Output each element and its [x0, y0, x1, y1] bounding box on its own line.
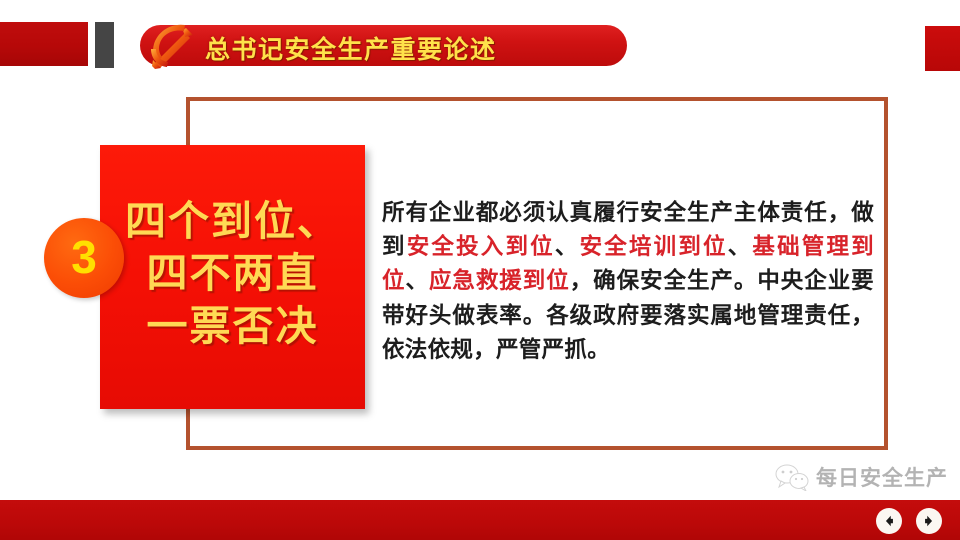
headline-line-1: 四个到位、	[100, 195, 365, 247]
body-plain-segment: 、	[728, 234, 753, 259]
arrow-left-icon[interactable]	[876, 508, 902, 534]
step-number-badge: 3	[44, 218, 124, 298]
hammer-sickle-emblem-icon	[141, 19, 197, 71]
slide-navigation	[876, 508, 942, 534]
body-plain-segment: 、	[555, 234, 580, 259]
footer-bar	[0, 500, 960, 540]
header-accent-bar-left	[0, 22, 88, 66]
body-plain-segment: 、	[405, 268, 428, 293]
arrow-right-icon[interactable]	[916, 508, 942, 534]
body-highlight-segment: 安全培训到位	[580, 234, 728, 259]
body-highlight-segment: 应急救援到位	[429, 268, 570, 293]
body-highlight-segment: 安全投入到位	[407, 234, 555, 259]
headline-line-3: 一票否决	[100, 300, 365, 352]
slide-canvas: 总书记安全生产重要论述 四个到位、 四不两直 一票否决 3 所有企业都必须认真履…	[0, 0, 960, 540]
header-corner-square	[925, 26, 960, 71]
wechat-logo-icon	[775, 463, 809, 491]
watermark: 每日安全生产	[775, 462, 948, 492]
header-accent-bar-gray	[95, 22, 114, 68]
watermark-label: 每日安全生产	[816, 462, 948, 492]
step-number-label: 3	[71, 234, 97, 280]
headline-block: 四个到位、 四不两直 一票否决	[100, 145, 365, 409]
page-title: 总书记安全生产重要论述	[205, 30, 497, 66]
headline-text: 四个到位、 四不两直 一票否决	[100, 195, 365, 352]
headline-line-2: 四不两直	[100, 247, 365, 299]
body-paragraph: 所有企业都必须认真履行安全生产主体责任，做到安全投入到位、安全培训到位、基础管理…	[382, 196, 874, 367]
